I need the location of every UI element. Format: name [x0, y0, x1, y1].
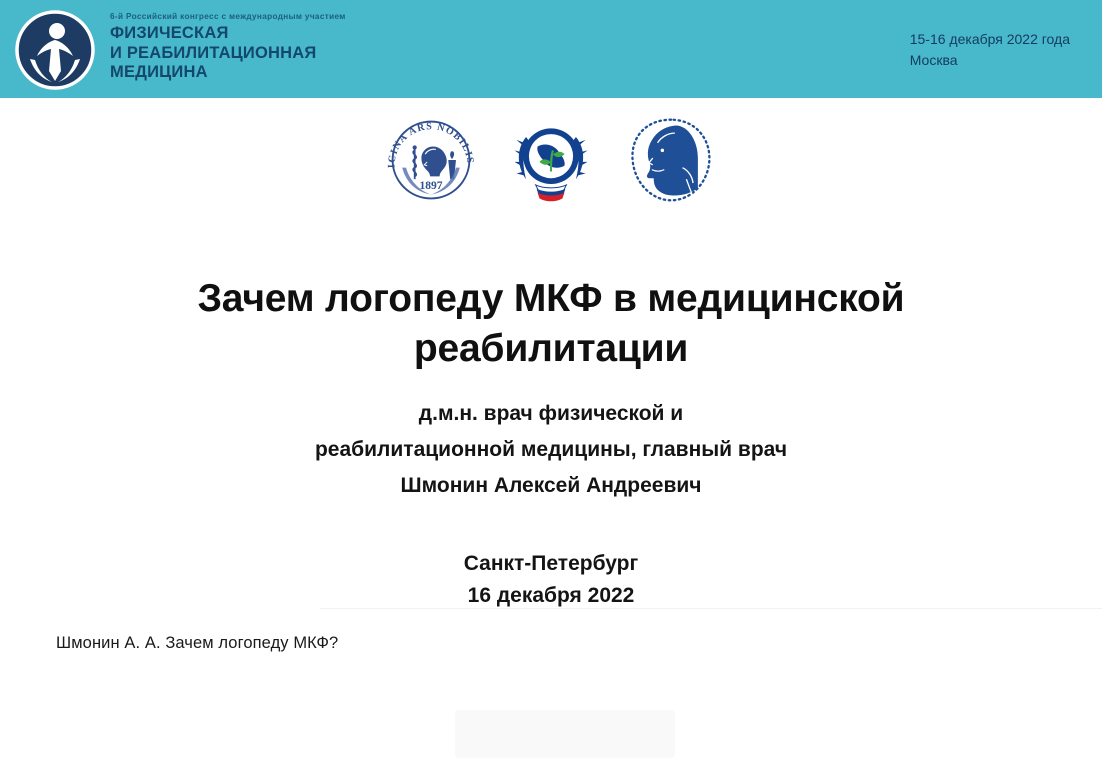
slide-title: Зачем логопеду МКФ в медицинской реабили… [111, 274, 991, 374]
congress-city: Москва [910, 50, 1070, 71]
congress-kicker: 6-й Российский конгресс с международным … [110, 11, 450, 22]
slide-content: Зачем логопеду МКФ в медицинской реабили… [0, 212, 1102, 612]
congress-title-line-1: ФИЗИЧЕСКАЯ [110, 24, 450, 44]
slide-subtitle-line-1: д.м.н. врач физической и [0, 396, 1102, 432]
congress-dates: 15-16 декабря 2022 года [910, 29, 1070, 50]
congress-event-meta: 15-16 декабря 2022 года Москва [910, 29, 1070, 71]
background-watermark [455, 710, 675, 758]
bearded-portrait-profile-emblem-icon [623, 112, 719, 208]
congress-header-band: 6-й Российский конгресс с международным … [0, 0, 1102, 98]
congress-title-line-2: И РЕАБИЛИТАЦИОННАЯ [110, 44, 450, 64]
slide-city: Санкт-Петербург [0, 548, 1102, 580]
congress-title-line-3: МЕДИЦИНА [110, 63, 450, 83]
slide-subtitle-line-2: реабилитационной медицины, главный врач [0, 432, 1102, 468]
slide-author-name: Шмонин Алексей Андреевич [0, 468, 1102, 504]
congress-logo-icon [14, 9, 96, 91]
slide-place-and-date: Санкт-Петербург 16 декабря 2022 [0, 548, 1102, 612]
congress-wordmark: 6-й Российский конгресс с международным … [110, 11, 450, 83]
svg-text:1897: 1897 [419, 180, 442, 192]
footer-divider [320, 608, 1102, 609]
slide-subtitle: д.м.н. врач физической и реабилитационно… [0, 396, 1102, 504]
medicina-ars-nobilissima-seal-icon: MEDICINA ARS NOBILISSIMA 1897 [383, 112, 479, 208]
dove-laurel-russian-flag-emblem-icon [503, 112, 599, 208]
partner-emblem-row: MEDICINA ARS NOBILISSIMA 1897 [0, 108, 1102, 212]
footer-note: Шмонин А. А. Зачем логопеду МКФ? [56, 634, 338, 653]
